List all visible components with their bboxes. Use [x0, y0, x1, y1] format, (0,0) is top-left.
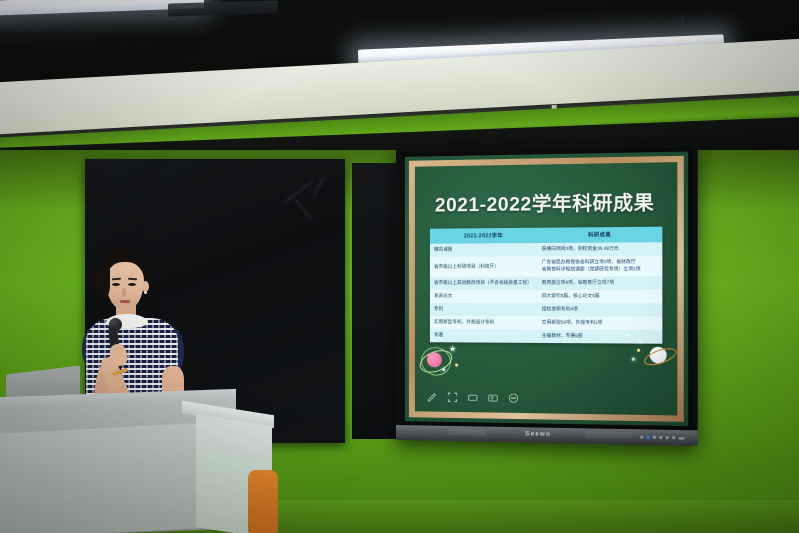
table-row: 发表论文 四大索引5篇，核心论文5篇	[430, 290, 663, 304]
table-row: 专利 授权发明专利4项	[430, 303, 663, 317]
orange-chair	[248, 470, 278, 533]
row-value: 广东省民办教育协会科研立项3项，省财政厅 省教育科学规划课题（党建研究专项）立项…	[538, 256, 663, 277]
slide-content-area: 2021-2022学年科研成果 2021-2022学年 科研成果 横向课题	[415, 162, 677, 415]
earring-icon	[144, 291, 147, 294]
control-button[interactable]	[672, 436, 675, 439]
slide-toolbar[interactable]	[427, 391, 519, 403]
display-screen[interactable]: 2021-2022学年科研成果 2021-2022学年 科研成果 横向课题	[405, 152, 688, 427]
table-row: 省市级以上科研项目（科技厅） 广东省民办教育协会科研立项3项，省财政厅 省教育科…	[430, 256, 663, 277]
row-label: 专利	[430, 303, 538, 316]
presentation-slide: 2021-2022学年科研成果 2021-2022学年 科研成果 横向课题	[405, 152, 688, 427]
research-results-table: 2021-2022学年 科研成果 横向课题 获横向项目3项，到校资金36.99万…	[430, 227, 663, 344]
power-button[interactable]	[640, 436, 643, 439]
dot-icon	[455, 364, 458, 367]
row-value-line: 获横向项目3项，到校资金36.99万元	[542, 246, 658, 254]
presenter-nose	[122, 288, 126, 297]
star-icon: ★	[631, 357, 637, 363]
planet-icon	[427, 352, 442, 367]
row-value-line: 教育部立项8项，省教育厅立项7项	[542, 279, 658, 286]
ir-sensor-icon	[678, 437, 684, 439]
row-value-line: 省教育科学规划课题（党建研究专项）立项1项	[542, 266, 658, 273]
control-button[interactable]	[659, 436, 662, 439]
presenter-eye	[128, 283, 136, 286]
note-icon[interactable]	[487, 392, 498, 403]
row-value: 授权发明专利4项	[538, 303, 663, 317]
interactive-whiteboard[interactable]: 2021-2022学年科研成果 2021-2022学年 科研成果 横向课题	[396, 142, 698, 446]
select-frame-icon[interactable]	[447, 392, 458, 403]
star-icon: ★	[637, 338, 644, 345]
table-body: 横向课题 获横向项目3项，到校资金36.99万元 省市级以上科研项目（科技厅） …	[430, 242, 663, 343]
row-value: 获横向项目3项，到校资金36.99万元	[538, 242, 663, 256]
table-header-results: 科研成果	[538, 227, 663, 243]
table-row: 省市级以上其他教改项目（不含省级质量工程） 教育部立项8项，省教育厅立项7项	[430, 276, 663, 290]
table-row: 横向课题 获横向项目3项，到校资金36.99万元	[430, 242, 663, 257]
table-header-year: 2021-2022学年	[430, 228, 538, 244]
row-label: 专著	[430, 329, 538, 343]
row-label: 发表论文	[430, 290, 538, 303]
bezel-vent	[448, 429, 486, 436]
row-value: 实用新型59项，外观专利1项	[538, 316, 663, 330]
presenter-hair-side	[94, 264, 110, 298]
blackboard-right	[352, 163, 402, 439]
rectangle-icon[interactable]	[467, 392, 478, 403]
row-label: 横向课题	[430, 243, 538, 257]
row-label: 省市级以上其他教改项目（不含省级质量工程）	[430, 276, 538, 289]
more-icon[interactable]	[508, 392, 519, 403]
row-value-line: 四大索引5篇，核心论文5篇	[542, 293, 658, 300]
table-row: 实用新型专利、外观设计专利 实用新型59项，外观专利1项	[430, 316, 663, 330]
display-brand-label: Seewo	[525, 431, 551, 438]
row-label: 省市级以上科研项目（科技厅）	[430, 256, 538, 276]
row-value: 主编教材、专著5部	[538, 330, 663, 344]
row-value-line: 实用新型59项，外观专利1项	[542, 319, 658, 326]
indicator-led-icon	[646, 436, 649, 439]
control-button[interactable]	[666, 436, 669, 439]
control-button[interactable]	[653, 436, 656, 439]
row-value: 教育部立项8项，省教育厅立项7项	[538, 276, 663, 290]
classroom-scene: 2021-2022学年科研成果 2021-2022学年 科研成果 横向课题	[0, 0, 799, 533]
row-value-line: 授权发明专利4项	[542, 306, 658, 313]
row-label: 实用新型专利、外观设计专利	[430, 316, 538, 330]
presenter-eye	[112, 283, 120, 286]
dot-icon	[626, 334, 628, 336]
presenter-mouth	[120, 300, 130, 303]
slide-title: 2021-2022学年科研成果	[435, 187, 654, 217]
row-value: 四大索引5篇，核心论文5篇	[538, 290, 663, 304]
pen-icon[interactable]	[427, 391, 438, 402]
dot-icon	[637, 349, 640, 352]
bezel-vent	[585, 431, 631, 438]
table-header-row: 2021-2022学年 科研成果	[430, 227, 663, 244]
star-icon: ★	[441, 367, 446, 373]
podium-front-panel	[0, 422, 210, 533]
star-icon: ★	[449, 345, 456, 353]
